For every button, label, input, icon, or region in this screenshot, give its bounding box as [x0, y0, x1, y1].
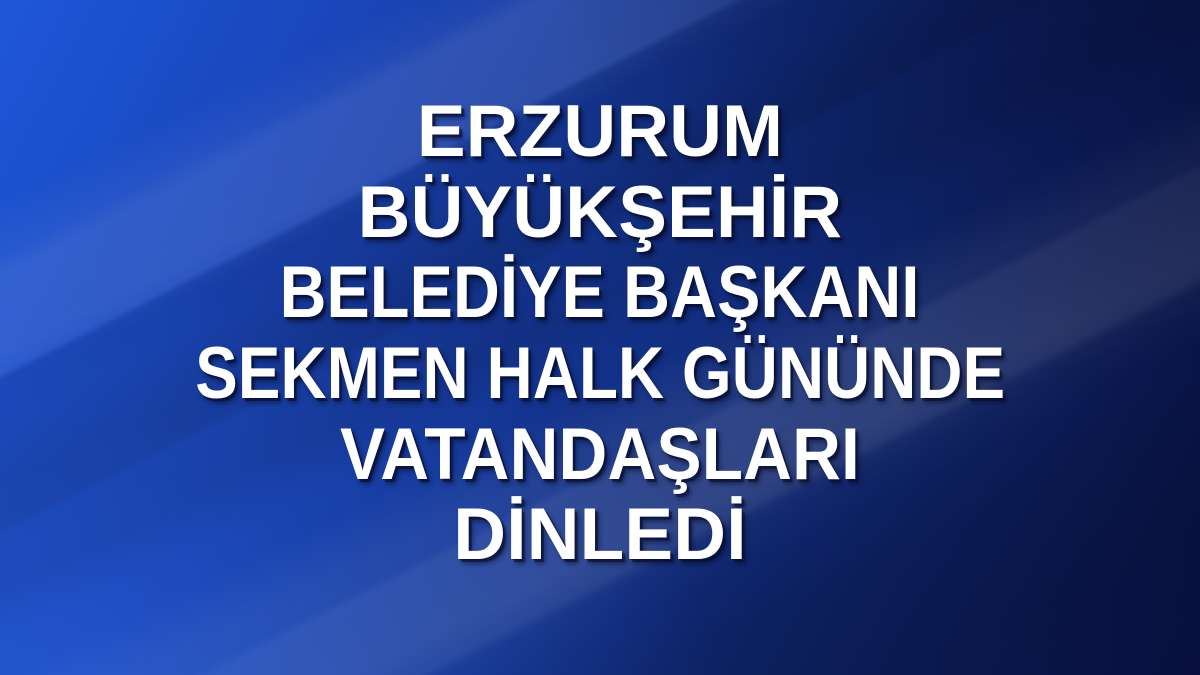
- headline-block: ERZURUM BÜYÜKŞEHİR BELEDİYE BAŞKANI SEKM…: [0, 0, 1200, 675]
- headline-line-4: SEKMEN HALK GÜNÜNDE: [195, 338, 1005, 410]
- news-headline-card: ERZURUM BÜYÜKŞEHİR BELEDİYE BAŞKANI SEKM…: [0, 0, 1200, 675]
- headline-line-5: VATANDAŞLARI: [340, 419, 860, 491]
- headline-line-6: DİNLEDİ: [453, 499, 746, 571]
- headline-line-2: BÜYÜKŞEHİR: [358, 177, 843, 249]
- headline-line-3: BELEDİYE BAŞKANI: [280, 257, 920, 329]
- headline-line-1: ERZURUM: [417, 96, 783, 168]
